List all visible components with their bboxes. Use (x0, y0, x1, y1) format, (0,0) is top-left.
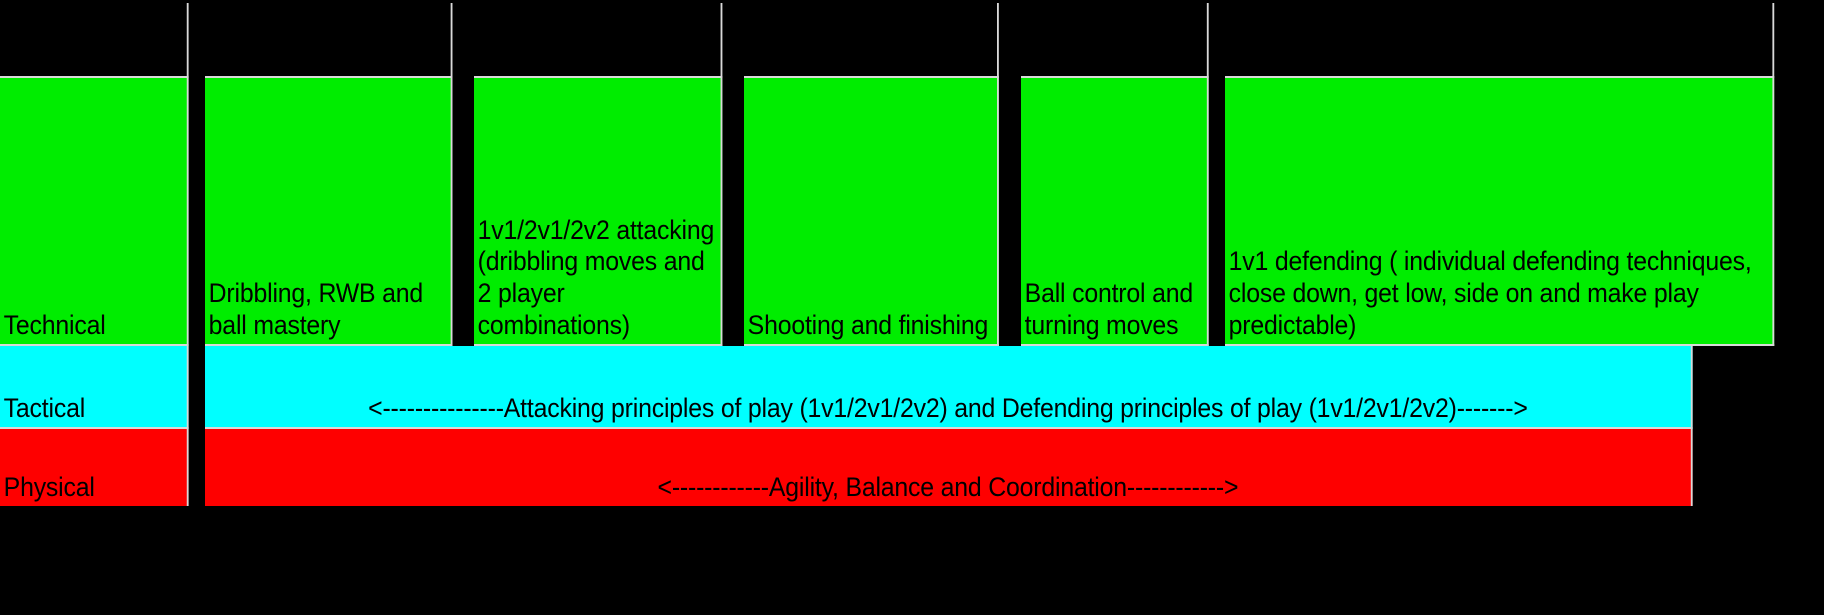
table-row-physical: Physical <------------Agility, Balance a… (0, 429, 1822, 506)
header-cell-6 (1225, 3, 1774, 78)
row-label-tactical: Tactical (0, 346, 189, 429)
header-cell-3 (474, 3, 722, 78)
header-cell-4 (744, 3, 999, 78)
technical-cell-shooting: Shooting and finishing (744, 78, 999, 346)
row-label-physical: Physical (0, 429, 189, 506)
technical-cell-dribbling: Dribbling, RWB and ball mastery (205, 78, 452, 346)
spreadsheet-canvas: Technical Dribbling, RWB and ball master… (0, 0, 1824, 615)
table-header-row (0, 3, 1822, 78)
tactical-merged-cell: <---------------Attacking principles of … (205, 346, 1693, 429)
row-label-technical: Technical (0, 78, 189, 346)
curriculum-table: Technical Dribbling, RWB and ball master… (0, 3, 1822, 506)
table-row-tactical: Tactical <---------------Attacking princ… (0, 346, 1822, 429)
technical-cell-defending: 1v1 defending ( individual defending tec… (1225, 78, 1774, 346)
technical-cell-attacking: 1v1/2v1/2v2 attacking (dribbling moves a… (474, 78, 722, 346)
header-cell-5 (1021, 3, 1209, 78)
technical-cell-ball-control: Ball control and turning moves (1021, 78, 1209, 346)
header-cell-1 (0, 3, 189, 78)
physical-merged-cell: <------------Agility, Balance and Coordi… (205, 429, 1693, 506)
header-cell-2 (205, 3, 452, 78)
table-row-technical: Technical Dribbling, RWB and ball master… (0, 78, 1822, 346)
